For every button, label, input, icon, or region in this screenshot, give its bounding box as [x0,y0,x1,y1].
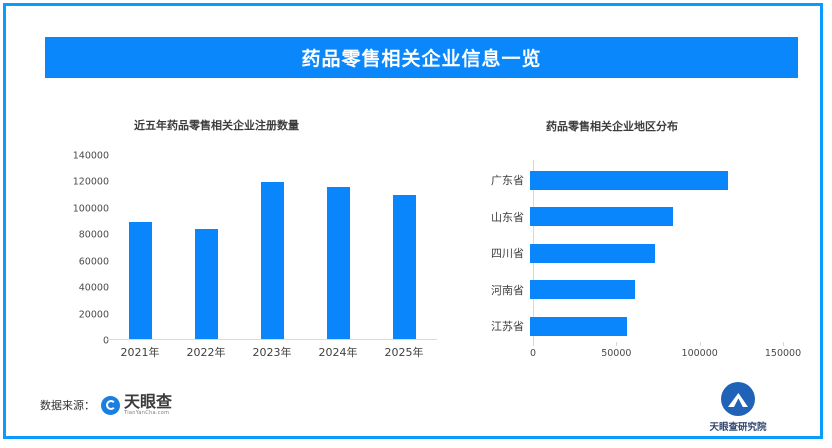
x-tick-label: 2024年 [305,344,371,364]
column-bar-wrap [239,164,305,339]
source-label: 数据来源： [40,397,95,413]
region-bar [530,171,728,190]
institute-emblem-icon [721,382,755,416]
column-bar [393,195,416,339]
column-bar-wrap [173,164,239,339]
title-banner: 药品零售相关企业信息一览 [45,37,798,78]
y-tick-label: 20000 [79,309,109,320]
region-x-tick-mark [783,342,784,346]
column-bar [129,222,152,340]
x-axis-labels: 2021年2022年2023年2024年2025年 [107,344,437,364]
region-x-tick-mark [700,342,701,346]
region-row: 河南省 [446,272,832,308]
region-bar [530,207,673,226]
region-row: 广东省 [446,162,832,198]
region-bar-track [530,162,832,198]
region-row: 四川省 [446,235,832,271]
region-bar-track [530,308,832,344]
region-x-axis-labels: 050000100000150000 [446,348,832,366]
y-tick-label: 80000 [79,230,109,241]
region-bars: 广东省山东省四川省河南省江苏省 [446,160,832,342]
column-bar-wrap [107,164,173,339]
region-x-tick-label: 100000 [682,348,718,359]
region-label: 江苏省 [446,318,530,334]
column-bar-wrap [305,164,371,339]
tianyancha-logo: 天眼查 TianYanCha.com [101,394,172,416]
region-bar-track [530,199,832,235]
charts-area: 近五年药品零售相关企业注册数量 140000120000100000800006… [6,96,832,376]
region-label: 广东省 [446,172,530,188]
y-axis-labels: 140000120000100000800006000040000200000 [61,156,109,346]
region-x-tick-mark [533,342,534,346]
y-tick-label: 40000 [79,283,109,294]
region-x-tick-label: 150000 [765,348,801,359]
column-bars [107,164,437,339]
x-axis-line [107,339,437,340]
column-bar [195,229,218,339]
x-tick-label: 2022年 [173,344,239,364]
region-bar-track [530,272,832,308]
tianyancha-wordmark: 天眼查 TianYanCha.com [124,394,172,416]
page-title: 药品零售相关企业信息一览 [301,44,541,71]
infographic-card: 药品零售相关企业信息一览 近五年药品零售相关企业注册数量 14000012000… [3,3,823,439]
region-label: 四川省 [446,245,530,261]
region-row: 山东省 [446,199,832,235]
region-distribution-chart: 药品零售相关企业地区分布 广东省山东省四川省河南省江苏省 05000010000… [446,96,832,376]
region-x-tick-label: 50000 [601,348,631,359]
y-tick-label: 60000 [79,256,109,267]
x-tick-label: 2025年 [371,344,437,364]
region-bar-track [530,235,832,271]
brand-name-en: TianYanCha.com [124,411,172,416]
x-tick-label: 2021年 [107,344,173,364]
registration-count-chart: 近五年药品零售相关企业注册数量 140000120000100000800006… [61,96,451,376]
region-x-tick-mark [616,342,617,346]
column-bar [327,187,350,340]
region-bar [530,280,635,299]
y-tick-label: 120000 [73,177,109,188]
region-x-tick-label: 0 [530,348,536,359]
region-bar [530,244,655,263]
footer: 数据来源： 天眼查 TianYanCha.com 天眼查研究院 [6,376,832,438]
institute-name: 天眼查研究院 [688,419,788,433]
y-tick-label: 100000 [73,203,109,214]
institute-logo: 天眼查研究院 [688,382,788,433]
region-label: 河南省 [446,282,530,298]
chart-title-registrations: 近五年药品零售相关企业注册数量 [134,117,299,133]
data-source: 数据来源： 天眼查 TianYanCha.com [40,394,172,416]
x-tick-label: 2023年 [239,344,305,364]
y-tick-label: 140000 [73,151,109,162]
region-row: 江苏省 [446,308,832,344]
chart-title-regions: 药品零售相关企业地区分布 [546,118,678,134]
brand-name-cn: 天眼查 [124,394,172,410]
column-bar [261,182,284,340]
region-label: 山东省 [446,209,530,225]
column-bar-wrap [371,164,437,339]
tianyancha-eye-icon [101,396,120,415]
region-bar [530,317,627,336]
